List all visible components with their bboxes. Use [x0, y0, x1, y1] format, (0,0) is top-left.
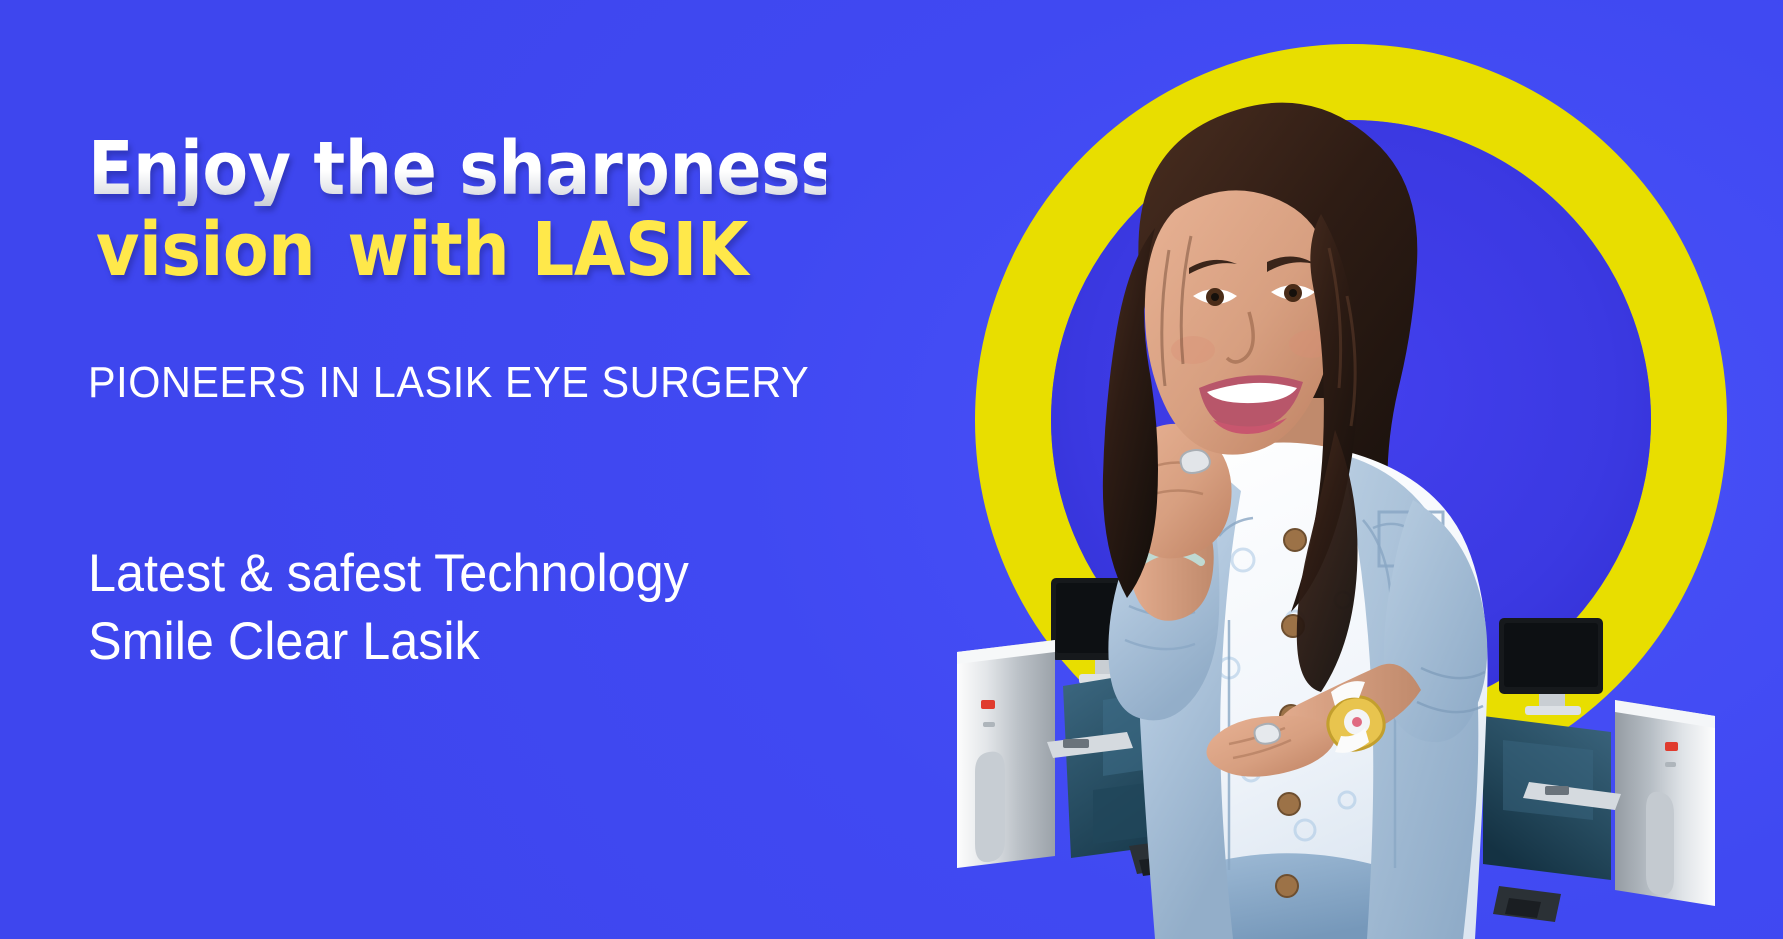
headline-word-gap: [315, 207, 347, 293]
headline-line-2: vision with LASIK: [96, 214, 827, 287]
headline-yellow-word: vision: [96, 207, 315, 293]
headline-line-2-rest: with LASIK: [347, 207, 748, 293]
tagline-line-1: Latest & safest Technology: [88, 540, 689, 608]
tagline-line-2: Smile Clear Lasik: [88, 608, 689, 676]
headline: Enjoy the sharpness of vision with LASIK: [88, 133, 908, 286]
device-led-right: [1665, 742, 1678, 751]
headline-line-1: Enjoy the sharpness of: [88, 133, 826, 206]
device-led-left: [981, 700, 995, 709]
banner-artwork: [943, 0, 1783, 939]
finger-ring: [1181, 450, 1210, 473]
lasik-laser-machine-right: [1483, 618, 1715, 922]
tagline: Latest & safest Technology Smile Clear L…: [88, 540, 689, 676]
lasik-promotional-banner: Enjoy the sharpness of vision with LASIK…: [0, 0, 1783, 939]
banner-copy: Enjoy the sharpness of vision with LASIK…: [88, 0, 908, 939]
subheadline: PIONEERS IN LASIK EYE SURGERY: [88, 358, 809, 408]
hip-hand-ring: [1255, 724, 1281, 744]
